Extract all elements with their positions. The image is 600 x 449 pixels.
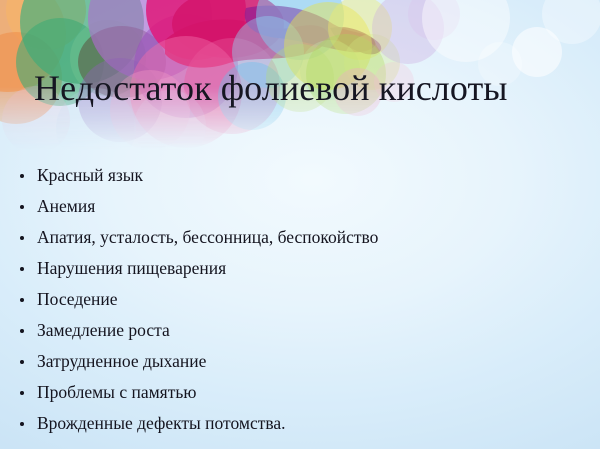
list-item: Анемия: [18, 191, 578, 222]
list-item: Проблемы с памятью: [18, 377, 578, 408]
bullet-text: Проблемы с памятью: [37, 382, 196, 402]
bullet-text: Анемия: [37, 196, 95, 216]
list-item: Затрудненное дыхание: [18, 346, 578, 377]
list-item: Апатия, усталость, бессонница, беспокойс…: [18, 222, 578, 253]
list-item: Поседение: [18, 284, 578, 315]
bullet-list: Красный язык Анемия Апатия, усталость, б…: [18, 160, 578, 439]
slide-canvas: Недостаток фолиевой кислоты Красный язык…: [0, 0, 600, 449]
list-item: Нарушения пищеварения: [18, 253, 578, 284]
bullet-text: Замедление роста: [37, 320, 170, 340]
bullet-text: Затрудненное дыхание: [37, 351, 206, 371]
list-item: Врожденные дефекты потомства.: [18, 408, 578, 439]
list-item: Красный язык: [18, 160, 578, 191]
list-item: Замедление роста: [18, 315, 578, 346]
bullet-text: Красный язык: [37, 165, 143, 185]
bullet-text: Апатия, усталость, бессонница, беспокойс…: [37, 227, 378, 247]
bullet-text: Врожденные дефекты потомства.: [37, 413, 286, 433]
bullet-text: Поседение: [37, 289, 118, 309]
bullet-text: Нарушения пищеварения: [37, 258, 226, 278]
slide-title: Недостаток фолиевой кислоты: [34, 66, 574, 110]
